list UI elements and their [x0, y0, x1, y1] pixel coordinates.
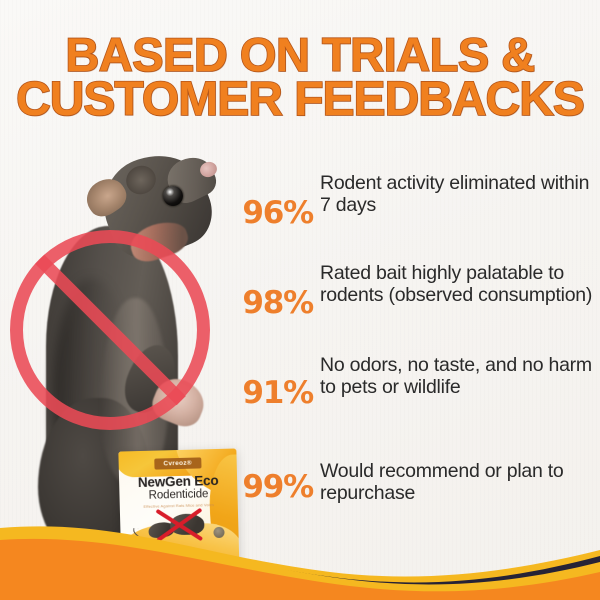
stat-row: 98% Rated bait highly palatable to roden… — [240, 262, 600, 319]
stat-description: No odors, no taste, and no harm to pets … — [320, 354, 600, 398]
stat-percentage: 99% — [240, 472, 320, 503]
stat-description: Rodent activity eliminated within 7 days — [320, 172, 600, 216]
stat-description: Rated bait highly palatable to rodents (… — [320, 262, 600, 306]
stat-percentage: 96% — [240, 198, 320, 229]
package-brand-label: Cvreoz® — [154, 457, 201, 469]
stat-row: 99% Would recommend or plan to repurchas… — [240, 460, 600, 504]
prohibition-sign-icon — [10, 230, 210, 430]
stat-row: 96% Rodent activity eliminated within 7 … — [240, 172, 600, 229]
page-title: BASED ON TRIALS & CUSTOMER FEEDBACKS — [0, 32, 600, 123]
stat-row: 91% No odors, no taste, and no harm to p… — [240, 354, 600, 409]
headline-line-1: BASED ON TRIALS & — [0, 32, 600, 77]
headline-line-2: CUSTOMER FEEDBACKS — [0, 77, 600, 123]
poster-canvas: BASED ON TRIALS & CUSTOMER FEEDBACKS Cvr… — [0, 0, 600, 600]
bottom-wave-decoration — [0, 510, 600, 600]
stat-description: Would recommend or plan to repurchase — [320, 460, 600, 504]
stat-percentage: 91% — [240, 378, 320, 409]
rat-eye-shape — [163, 186, 183, 206]
stat-percentage: 98% — [240, 288, 320, 319]
